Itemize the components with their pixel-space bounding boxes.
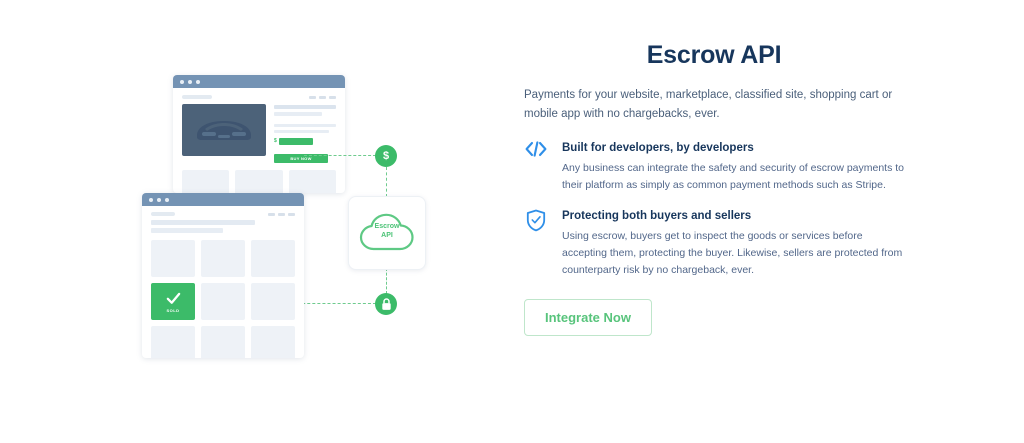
listing-tile[interactable] [201,240,245,277]
marketplace-grid-window: SOLD [142,193,304,358]
feature-description: Any business can integrate the safety an… [562,160,904,194]
feature-icon-wrap [524,140,548,194]
product-title-placeholder [274,105,336,109]
related-product-tile[interactable] [289,170,336,193]
nav-placeholder [309,96,336,99]
listing-tile[interactable] [201,326,245,358]
window-dot-close-icon [149,198,153,202]
escrow-api-hero-section: $ BUY NOW [0,0,1024,443]
connector-dollar-to-cloud [386,167,387,197]
dollar-icon: $ [383,151,389,162]
listing-tile[interactable] [251,283,295,320]
window-dot-close-icon [180,80,184,84]
currency-symbol: $ [274,139,277,144]
page-heading-placeholder [142,220,304,233]
escrow-api-cloud-card: Escrow API [348,196,426,270]
window-title-bar [142,193,304,206]
related-product-tile[interactable] [182,170,229,193]
car-illustration-icon [193,116,255,144]
feature-title: Protecting both buyers and sellers [562,208,904,224]
listing-grid: SOLD [142,233,304,358]
feature-icon-wrap [524,208,548,279]
lock-icon [381,298,392,311]
hero-content: Escrow API Payments for your website, ma… [524,38,904,336]
escrow-api-illustration: $ BUY NOW [0,0,500,443]
feature-title: Built for developers, by developers [562,140,904,156]
listing-tile[interactable] [201,283,245,320]
listing-tile[interactable] [151,326,195,358]
nav-item-placeholder [268,213,275,216]
dollar-badge: $ [375,145,397,167]
site-logo-placeholder [182,95,212,99]
cloud-label-line2: API [381,232,393,239]
listing-tile[interactable] [251,326,295,358]
related-product-tile[interactable] [235,170,282,193]
cloud-graphic: Escrow API [358,212,416,254]
site-logo-placeholder [151,212,175,216]
product-price-row: $ [274,138,336,145]
car-image [182,104,266,156]
nav-placeholder [268,213,295,216]
listing-tile[interactable] [251,240,295,277]
feature-item-protection: Protecting both buyers and sellers Using… [524,208,904,279]
feature-text: Protecting both buyers and sellers Using… [562,208,904,279]
page-title: Escrow API [524,38,904,72]
product-desc-placeholder [274,124,336,127]
code-brackets-icon [525,141,547,157]
window-dot-maximize-icon [165,198,169,202]
listing-tile-sold[interactable]: SOLD [151,283,195,320]
product-listing-window: $ BUY NOW [173,75,345,193]
window-title-bar [173,75,345,88]
nav-item-placeholder [288,213,295,216]
feature-description: Using escrow, buyers get to inspect the … [562,228,904,279]
nav-item-placeholder [319,96,326,99]
window-content: SOLD [142,206,304,358]
product-subtitle-placeholder [274,112,322,116]
window-dot-minimize-icon [188,80,192,84]
price-placeholder [279,138,313,145]
nav-item-placeholder [278,213,285,216]
cloud-label: Escrow API [358,222,416,240]
listing-tile[interactable] [151,240,195,277]
feature-text: Built for developers, by developers Any … [562,140,904,194]
checkmark-icon [165,290,182,307]
connector-cloud-to-lock [386,268,387,294]
product-desc-placeholder [274,130,329,133]
heading-line [151,220,255,225]
lock-badge [375,293,397,315]
related-products-row [173,163,345,193]
shield-check-icon [526,209,546,232]
subheading-line [151,228,223,233]
cloud-label-line1: Escrow [375,223,400,230]
window-content: $ BUY NOW [173,88,345,193]
nav-item-placeholder [329,96,336,99]
sold-label: SOLD [166,308,179,313]
feature-list: Built for developers, by developers Any … [524,140,904,279]
spacer [274,119,336,121]
nav-item-placeholder [309,96,316,99]
window-dot-maximize-icon [196,80,200,84]
window-header-row [142,206,304,220]
feature-item-developers: Built for developers, by developers Any … [524,140,904,194]
integrate-now-button[interactable]: Integrate Now [524,299,652,336]
hero-subtitle: Payments for your website, marketplace, … [524,86,904,124]
window-dot-minimize-icon [157,198,161,202]
connector-buy-to-dollar [304,155,376,156]
window-header-row [173,88,345,104]
